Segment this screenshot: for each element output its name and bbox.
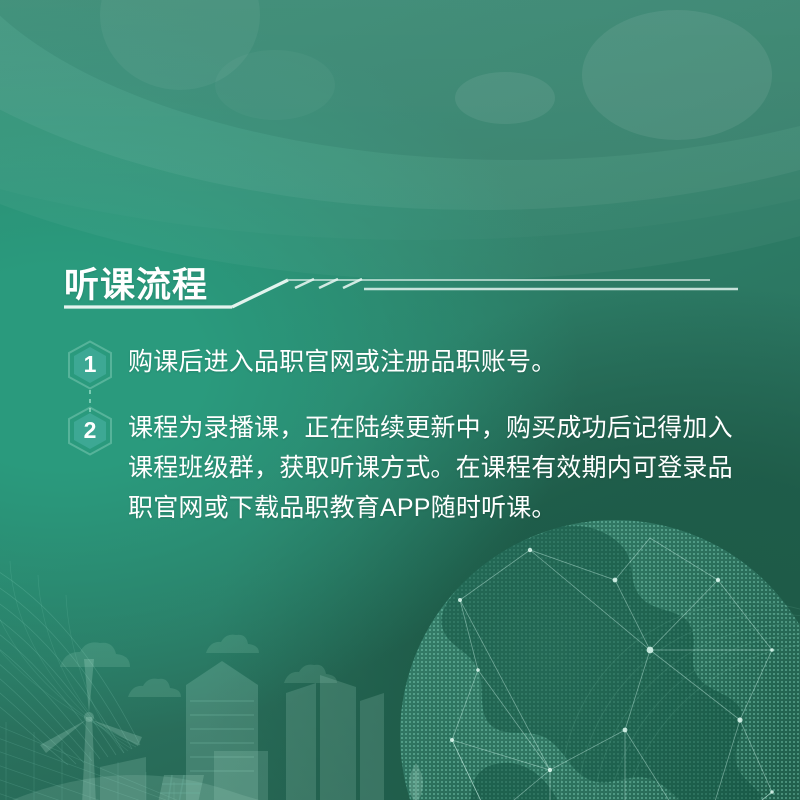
content-layer: 听课流程 xyxy=(0,0,800,800)
poster-canvas: 听课流程 xyxy=(0,0,800,800)
step-text-2: 课程为录播课，正在陆续更新中，购买成功后记得加入课程班级群，获取听课方式。在课程… xyxy=(116,406,754,528)
step-text-1: 购课后进入品职官网或注册品职账号。 xyxy=(116,340,556,382)
steps-list: 1 购课后进入品职官网或注册品职账号。 2 课程为录播课，正在陆续更新中，购买成… xyxy=(64,340,754,528)
step-badge-1: 1 xyxy=(64,340,116,390)
step-number-1: 1 xyxy=(64,340,116,390)
title-underline-rule-icon xyxy=(64,266,744,312)
step-item-1: 1 购课后进入品职官网或注册品职账号。 xyxy=(64,340,754,390)
step-badge-2: 2 xyxy=(64,406,116,456)
step-number-2: 2 xyxy=(64,406,116,456)
section-title-row: 听课流程 xyxy=(64,266,744,312)
step-item-2: 2 课程为录播课，正在陆续更新中，购买成功后记得加入课程班级群，获取听课方式。在… xyxy=(64,406,754,528)
